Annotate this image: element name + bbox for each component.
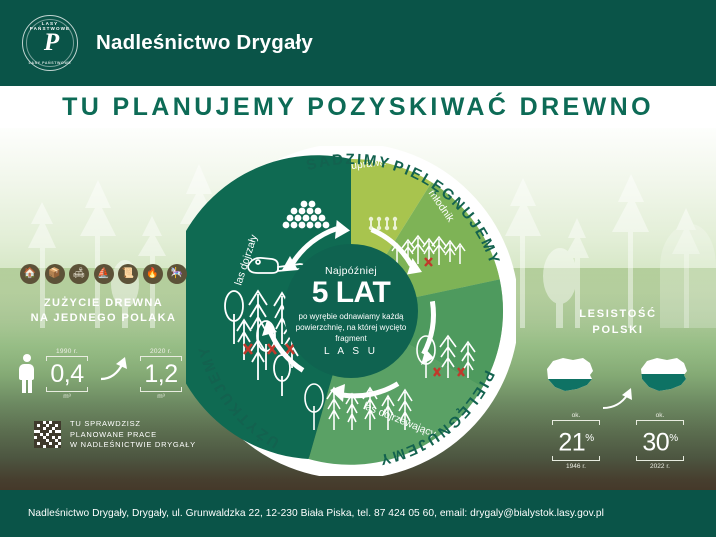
banner-bar: TU PLANUJEMY POZYSKIWAĆ DREWNO (0, 86, 716, 128)
wood-use-icon-row: 🏠 📦 🛋 ⛵ 📜 🔥 🎠 (16, 264, 191, 284)
stat-1946-value: 21% (545, 425, 607, 456)
svg-text:PIELĘGNUJEMY: PIELĘGNUJEMY (391, 157, 504, 267)
infographic-canvas: SADZIMY PIELĘGNUJEMY PIELĘGNUJEMY UŻYTKU… (0, 128, 716, 490)
forest-growth-arrow-icon (601, 386, 635, 412)
rocking-horse-icon: 🎠 (167, 264, 187, 284)
left-panel-title: ZUŻYCIE DREWNA NA JEDNEGO POLAKA (16, 296, 191, 326)
stat-1946-bracket-bottom (552, 456, 600, 461)
stat-1990-year: 1990 r. (39, 348, 95, 355)
person-icon (18, 354, 35, 394)
stat-2020-unit: m³ (133, 393, 189, 400)
qr-info-block[interactable]: TU SPRAWDZISZ PLANOWANE PRACE W NADLEŚNI… (34, 419, 196, 451)
forest-cycle-wheel: SADZIMY PIELĘGNUJEMY PIELĘGNUJEMY UŻYTKU… (186, 146, 516, 476)
stat-2020-year: 2020 r. (133, 348, 189, 355)
poland-map-2022 (637, 355, 693, 395)
wood-consumption-panel: 🏠 📦 🛋 ⛵ 📜 🔥 🎠 ZUŻYCIE DREWNA NA JEDNEGO … (16, 264, 191, 400)
stat-1946-year: 1946 r. (545, 463, 607, 470)
qr-caption: TU SPRAWDZISZ PLANOWANE PRACE W NADLEŚNI… (70, 419, 196, 451)
growth-arrow-icon (99, 351, 129, 385)
svg-text:PIELĘGNUJEMY: PIELĘGNUJEMY (377, 368, 498, 469)
stat-2022-approx: ok. (629, 412, 691, 419)
house-icon: 🏠 (20, 264, 40, 284)
stat-1946: ok. 21% 1946 r. (545, 412, 607, 470)
qr-code-icon[interactable] (34, 421, 61, 448)
logo-bottom-text: LASY PAŃSTWOWE (22, 61, 78, 65)
stat-1990: 1990 r. 0,4 m³ (39, 348, 95, 400)
logo-monogram: P (44, 29, 56, 57)
wheel-outer-labels: SADZIMY PIELĘGNUJEMY PIELĘGNUJEMY UŻYTKU… (158, 128, 544, 490)
poland-map-1946 (543, 355, 599, 395)
qr-caption-line2: PLANOWANE PRACE (70, 430, 196, 441)
wheel-label-uzytkujemy: UŻYTKUJEMY (195, 343, 282, 451)
wheel-label-pielegnujemy-top: PIELĘGNUJEMY (391, 157, 504, 267)
paper-bag-icon: 📦 (45, 264, 65, 284)
left-panel-title-line2: NA JEDNEGO POLAKA (16, 311, 191, 326)
page-footer: Nadleśnictwo Drygały, Drygały, ul. Grunw… (0, 490, 716, 537)
right-panel-title-line2: POLSKI (528, 322, 708, 338)
stat-2022-value: 30% (629, 425, 691, 456)
furniture-icon: 🛋 (69, 264, 89, 284)
svg-text:SADZIMY: SADZIMY (304, 151, 392, 174)
wood-consumption-comparison: 1990 r. 0,4 m³ 2020 r. 1,2 m³ (16, 348, 191, 400)
stat-1946-approx: ok. (545, 412, 607, 419)
forest-cover-stats: ok. 21% 1946 r. ok. 30% 2022 r. (528, 412, 708, 470)
stat-1990-value: 0,4 (39, 361, 95, 387)
stat-2020: 2020 r. 1,2 m³ (133, 348, 189, 400)
left-panel-title-line1: ZUŻYCIE DREWNA (16, 296, 191, 311)
stat-2022: ok. 30% 2022 r. (629, 412, 691, 470)
stat-2022-year: 2022 r. (629, 463, 691, 470)
qr-caption-line3: W NADLEŚNICTWIE DRYGAŁY (70, 440, 196, 451)
banner-title: TU PLANUJEMY POZYSKIWAĆ DREWNO (62, 93, 654, 122)
forest-cover-panel: LESISTOŚĆ POLSKI (528, 306, 708, 470)
page-title: Nadleśnictwo Drygały (96, 31, 313, 55)
fire-icon: 🔥 (143, 264, 163, 284)
stat-2020-value: 1,2 (133, 361, 189, 387)
svg-text:UŻYTKUJEMY: UŻYTKUJEMY (195, 343, 282, 451)
wheel-label-sadzimy: SADZIMY (304, 151, 392, 174)
right-panel-title: LESISTOŚĆ POLSKI (528, 306, 708, 338)
stat-2022-bracket-bottom (636, 456, 684, 461)
footer-contact: Nadleśnictwo Drygały, Drygały, ul. Grunw… (28, 508, 604, 519)
right-panel-title-line1: LESISTOŚĆ (528, 306, 708, 322)
wheel-label-pielegnujemy-bottom: PIELĘGNUJEMY (377, 368, 498, 469)
paper-roll-icon: 📜 (118, 264, 138, 284)
qr-caption-line1: TU SPRAWDZISZ (70, 419, 196, 430)
page-header: LASY PAŃSTWOWE P LASY PAŃSTWOWE Nadleśni… (0, 0, 716, 86)
stat-1990-unit: m³ (39, 393, 95, 400)
lasy-panstwowe-logo: LASY PAŃSTWOWE P LASY PAŃSTWOWE (22, 15, 78, 71)
boat-icon: ⛵ (94, 264, 114, 284)
